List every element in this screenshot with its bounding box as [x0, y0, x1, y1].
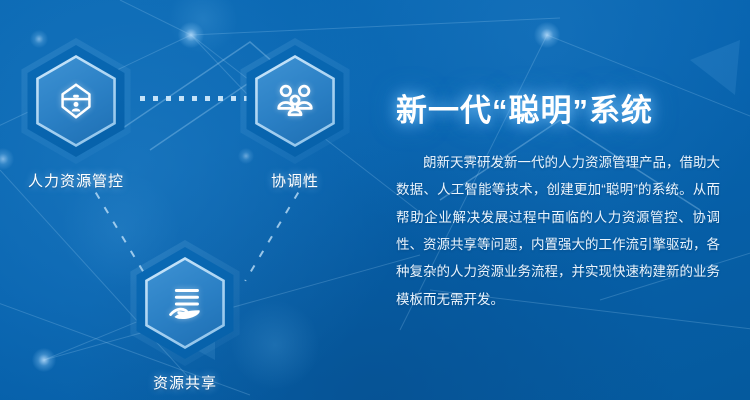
hexagon-coordination[interactable] — [232, 38, 358, 164]
node-label-hr-control: 人力资源管控 — [13, 170, 139, 191]
connector-coordination-to-resource — [244, 177, 308, 281]
hand-documents-icon — [160, 278, 210, 328]
glow-dot — [534, 22, 560, 48]
copy-column: 新一代“聪明”系统 朗新天霁研发新一代的人力资源管理产品，借助大数据、人工智能等… — [396, 92, 720, 313]
page-title: 新一代“聪明”系统 — [396, 92, 720, 129]
promo-banner: 人力资源管控 — [0, 0, 750, 400]
node-label-resource-sharing: 资源共享 — [122, 372, 248, 393]
hexagon-resource-sharing[interactable] — [122, 240, 248, 366]
people-group-icon — [270, 76, 320, 126]
node-hr-control[interactable]: 人力资源管控 — [13, 38, 139, 191]
shield-person-icon — [51, 76, 101, 126]
node-resource-sharing[interactable]: 资源共享 — [122, 240, 248, 393]
body-paragraph: 朗新天霁研发新一代的人力资源管理产品，借助大数据、人工智能等技术，创建更加“聪明… — [396, 149, 720, 313]
node-coordination[interactable]: 协调性 — [232, 38, 358, 191]
hexagon-hr-control[interactable] — [13, 38, 139, 164]
feature-node-cluster: 人力资源管控 — [0, 0, 400, 400]
node-label-coordination: 协调性 — [232, 170, 358, 191]
